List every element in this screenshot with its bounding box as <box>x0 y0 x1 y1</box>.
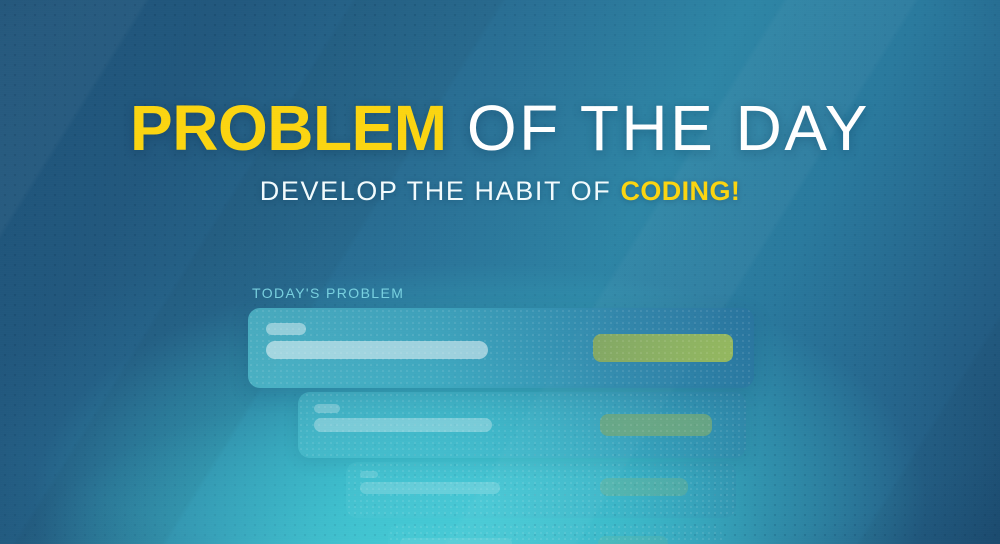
card-2-tag-placeholder <box>314 404 340 413</box>
promo-banner: PROBLEM OF THE DAY DEVELOP THE HABIT OF … <box>0 0 1000 544</box>
card-1-solve-button[interactable] <box>593 334 733 362</box>
card-3-content <box>346 462 736 518</box>
headline-light-text: OF THE DAY <box>447 92 870 164</box>
problem-card-3[interactable] <box>346 462 736 518</box>
page-subtitle: DEVELOP THE HABIT OF CODING! <box>0 178 1000 205</box>
headline-block: PROBLEM OF THE DAY <box>0 96 1000 160</box>
problem-card-1[interactable] <box>248 308 754 388</box>
page-title: PROBLEM OF THE DAY <box>0 96 1000 160</box>
subtitle-light-text: DEVELOP THE HABIT OF <box>260 176 621 206</box>
subtitle-bold-text: CODING! <box>620 176 740 206</box>
headline-bold-text: PROBLEM <box>130 92 447 164</box>
card-4-content <box>388 524 722 544</box>
problem-card-stack <box>0 0 1000 544</box>
card-2-solve-button[interactable] <box>600 414 712 436</box>
card-1-title-placeholder <box>266 341 488 359</box>
section-label-todays-problem: TODAY'S PROBLEM <box>252 285 404 301</box>
card-3-solve-button[interactable] <box>600 478 688 496</box>
problem-card-2[interactable] <box>298 392 746 458</box>
card-2-title-placeholder <box>314 418 492 432</box>
card-3-title-placeholder <box>360 482 500 494</box>
card-4-solve-button[interactable] <box>598 536 668 544</box>
card-1-content <box>248 308 754 388</box>
card-3-tag-placeholder <box>360 471 378 478</box>
problem-card-4[interactable] <box>388 524 722 544</box>
card-1-tag-placeholder <box>266 323 306 335</box>
card-4-title-placeholder <box>400 538 512 544</box>
card-2-content <box>298 392 746 458</box>
